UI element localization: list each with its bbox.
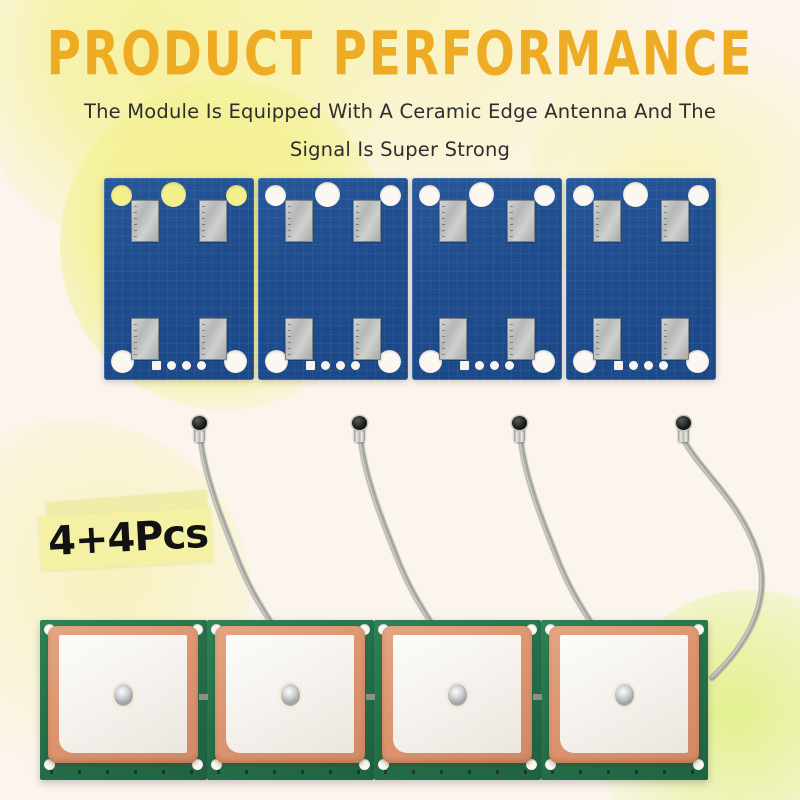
antenna-base-pads (384, 770, 530, 774)
mounting-hole-top-right (688, 185, 709, 206)
connector-head-icon (352, 416, 367, 430)
side-contact-tab-left (533, 694, 542, 700)
gps-module-3 (412, 178, 562, 380)
product-performance-poster: PRODUCT PERFORMANCE The Module Is Equipp… (0, 0, 800, 800)
solder-pad-top-left (285, 200, 313, 242)
contact-pad-round-2 (644, 361, 653, 370)
quantity-badge: 4+4Pcs (38, 492, 218, 584)
coax-cable-3-shadow (521, 442, 592, 624)
solder-pad-bottom-right (507, 318, 535, 360)
solder-pad-bottom-left (439, 318, 467, 360)
mounting-hole-top-left (419, 185, 440, 206)
contact-pad-round-2 (336, 361, 345, 370)
contact-pad-round-3 (505, 361, 514, 370)
coax-cable-3 (521, 442, 592, 624)
coax-cable-4-ipex-connector (676, 416, 691, 442)
mounting-hole-bottom-right (378, 350, 401, 373)
mounting-hole-bottom-right (686, 350, 709, 373)
mounting-hole-bottom-right (532, 350, 555, 373)
gps-module-1 (104, 178, 254, 380)
quantity-badge-label: 4+4Pcs (37, 507, 219, 568)
solder-pad-bottom-left (593, 318, 621, 360)
solder-pad-bottom-left (285, 318, 313, 360)
ceramic-antenna-2 (207, 620, 374, 780)
ceramic-patch (215, 626, 365, 763)
solder-pad-bottom-right (353, 318, 381, 360)
mounting-hole-top-center (161, 182, 186, 207)
solder-pad-top-right (661, 200, 689, 242)
mounting-hole-top-center (469, 182, 494, 207)
solder-pad-top-right (353, 200, 381, 242)
page-subtitle: The Module Is Equipped With A Ceramic Ed… (60, 93, 740, 169)
solder-pad-top-left (131, 200, 159, 242)
coax-cable-3-ipex-connector (512, 416, 527, 442)
mounting-hole-top-center (623, 182, 648, 207)
solder-pad-bottom-left (131, 318, 159, 360)
ceramic-antenna-1 (40, 620, 207, 780)
coax-cable-2-ipex-connector (352, 416, 367, 442)
coax-cable-2-shadow (361, 442, 432, 624)
mounting-hole-top-right (534, 185, 555, 206)
contact-pad-round-1 (167, 361, 176, 370)
connector-head-icon (192, 416, 207, 430)
page-title: PRODUCT PERFORMANCE (0, 20, 800, 90)
solder-pad-bottom-right (199, 318, 227, 360)
contact-pad-round-2 (490, 361, 499, 370)
contact-pad-round-3 (197, 361, 206, 370)
ceramic-patch (549, 626, 699, 763)
contact-pad-square (460, 361, 469, 370)
ceramic-patch (382, 626, 532, 763)
contact-pad-round-3 (659, 361, 668, 370)
mounting-hole-top-left (265, 185, 286, 206)
antenna-feed-point (448, 684, 467, 706)
mounting-hole-top-right (226, 185, 247, 206)
contact-pad-square (614, 361, 623, 370)
contact-pad-round-2 (182, 361, 191, 370)
ceramic-antenna-3 (374, 620, 541, 780)
mounting-hole-bottom-right (224, 350, 247, 373)
antenna-base-pads (50, 770, 196, 774)
gps-module-2 (258, 178, 408, 380)
coax-cable-1-ipex-connector (192, 416, 207, 442)
coax-cable-2-highlight (360, 442, 431, 624)
antenna-feed-point (114, 684, 133, 706)
contact-pad-round-1 (475, 361, 484, 370)
solder-pad-top-left (593, 200, 621, 242)
connector-head-icon (512, 416, 527, 430)
solder-pad-top-right (199, 200, 227, 242)
coax-cable-2 (361, 442, 432, 624)
contact-pad-round-1 (321, 361, 330, 370)
connector-head-icon (676, 416, 691, 430)
solder-pad-top-left (439, 200, 467, 242)
mounting-hole-top-left (111, 185, 132, 206)
mounting-hole-top-left (573, 185, 594, 206)
contact-pad-square (306, 361, 315, 370)
antenna-feed-point (615, 684, 634, 706)
side-contact-tab-left (199, 694, 208, 700)
mounting-hole-top-center (315, 182, 340, 207)
contact-pad-round-1 (629, 361, 638, 370)
gps-module-4 (566, 178, 716, 380)
solder-pad-bottom-right (661, 318, 689, 360)
mounting-hole-top-right (380, 185, 401, 206)
coax-cable-3-highlight (520, 442, 591, 624)
ceramic-antenna-4 (541, 620, 708, 780)
antenna-base-pads (217, 770, 363, 774)
contact-pad-round-3 (351, 361, 360, 370)
antenna-base-pads (551, 770, 697, 774)
solder-pad-top-right (507, 200, 535, 242)
side-contact-tab-left (366, 694, 375, 700)
antenna-feed-point (281, 684, 300, 706)
contact-pad-square (152, 361, 161, 370)
ceramic-patch (48, 626, 198, 763)
